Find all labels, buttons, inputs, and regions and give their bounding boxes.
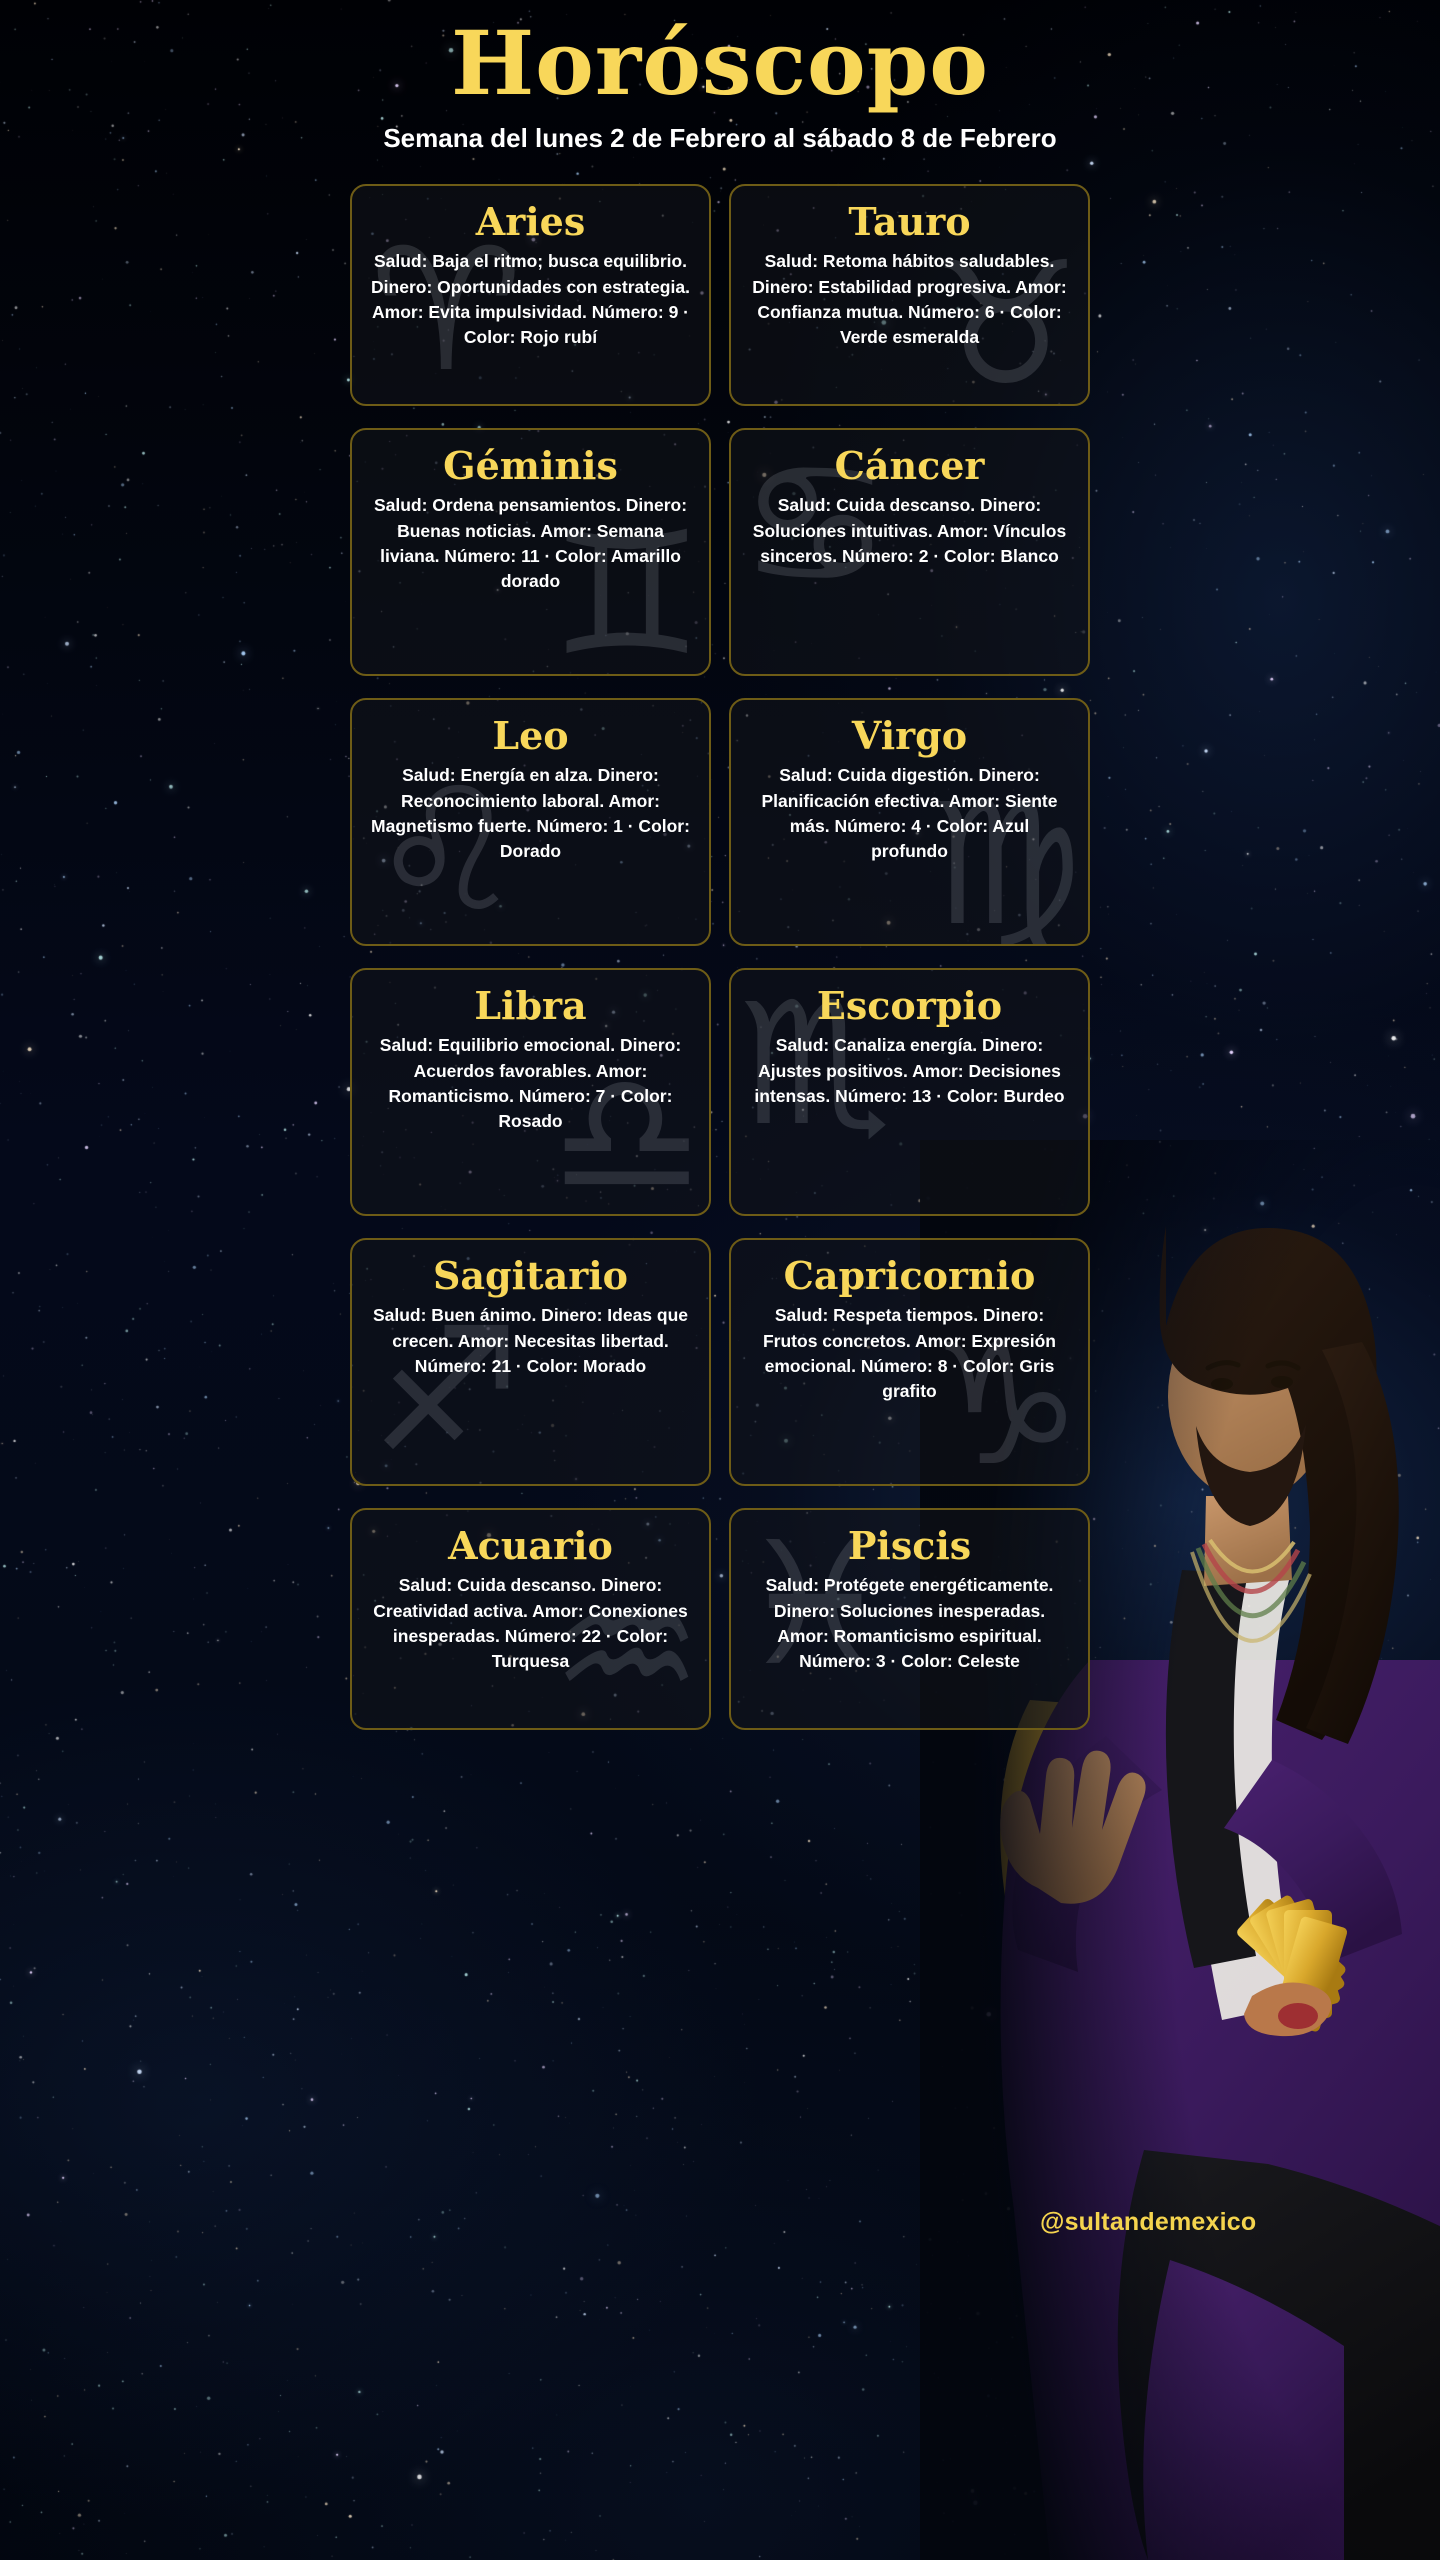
zodiac-sign-body: Salud: Cuida digestión. Dinero: Planific… xyxy=(749,763,1070,865)
zodiac-sign-name: Leo xyxy=(492,714,568,758)
zodiac-card-libra[interactable]: ♎LibraSalud: Equilibrio emocional. Diner… xyxy=(350,968,711,1216)
zodiac-card-capricornio[interactable]: ♑CapricornioSalud: Respeta tiempos. Dine… xyxy=(729,1238,1090,1486)
zodiac-sign-body: Salud: Respeta tiempos. Dinero: Frutos c… xyxy=(749,1303,1070,1405)
zodiac-sign-body: Salud: Baja el ritmo; busca equilibrio. … xyxy=(370,249,691,351)
zodiac-sign-name: Géminis xyxy=(443,444,618,488)
zodiac-sign-name: Sagitario xyxy=(433,1254,628,1298)
zodiac-sign-name: Escorpio xyxy=(817,984,1002,1028)
zodiac-card-escorpio[interactable]: ♏EscorpioSalud: Canaliza energía. Dinero… xyxy=(729,968,1090,1216)
zodiac-sign-body: Salud: Energía en alza. Dinero: Reconoci… xyxy=(370,763,691,865)
page-subtitle: Semana del lunes 2 de Febrero al sábado … xyxy=(360,121,1080,156)
account-handle: @sultandemexico xyxy=(1040,2208,1256,2237)
zodiac-sign-body: Salud: Equilibrio emocional. Dinero: Acu… xyxy=(370,1033,691,1135)
zodiac-sign-name: Cáncer xyxy=(835,444,985,488)
zodiac-sign-name: Aries xyxy=(476,200,586,244)
zodiac-sign-name: Virgo xyxy=(852,714,967,758)
zodiac-sign-body: Salud: Protégete energéticamente. Dinero… xyxy=(749,1573,1070,1675)
zodiac-sign-body: Salud: Buen ánimo. Dinero: Ideas que cre… xyxy=(370,1303,691,1379)
zodiac-sign-body: Salud: Canaliza energía. Dinero: Ajustes… xyxy=(749,1033,1070,1109)
zodiac-card-sagitario[interactable]: ♐SagitarioSalud: Buen ánimo. Dinero: Ide… xyxy=(350,1238,711,1486)
zodiac-card-grid: ♈AriesSalud: Baja el ritmo; busca equili… xyxy=(350,184,1090,1730)
zodiac-sign-name: Libra xyxy=(474,984,586,1028)
zodiac-card-geminis[interactable]: ♊GéminisSalud: Ordena pensamientos. Dine… xyxy=(350,428,711,676)
zodiac-sign-name: Acuario xyxy=(448,1524,613,1568)
page-title: Horóscopo xyxy=(0,14,1440,113)
zodiac-card-virgo[interactable]: ♍VirgoSalud: Cuida digestión. Dinero: Pl… xyxy=(729,698,1090,946)
zodiac-sign-name: Piscis xyxy=(848,1524,971,1568)
zodiac-sign-body: Salud: Cuida descanso. Dinero: Solucione… xyxy=(749,493,1070,569)
zodiac-sign-name: Tauro xyxy=(848,200,970,244)
zodiac-card-cancer[interactable]: ♋CáncerSalud: Cuida descanso. Dinero: So… xyxy=(729,428,1090,676)
zodiac-card-leo[interactable]: ♌LeoSalud: Energía en alza. Dinero: Reco… xyxy=(350,698,711,946)
zodiac-card-acuario[interactable]: ♒AcuarioSalud: Cuida descanso. Dinero: C… xyxy=(350,1508,711,1730)
zodiac-card-tauro[interactable]: ♉TauroSalud: Retoma hábitos saludables. … xyxy=(729,184,1090,406)
zodiac-sign-name: Capricornio xyxy=(784,1254,1036,1298)
zodiac-sign-body: Salud: Ordena pensamientos. Dinero: Buen… xyxy=(370,493,691,595)
zodiac-sign-body: Salud: Cuida descanso. Dinero: Creativid… xyxy=(370,1573,691,1675)
zodiac-card-piscis[interactable]: ♓PiscisSalud: Protégete energéticamente.… xyxy=(729,1508,1090,1730)
zodiac-card-aries[interactable]: ♈AriesSalud: Baja el ritmo; busca equili… xyxy=(350,184,711,406)
zodiac-sign-body: Salud: Retoma hábitos saludables. Dinero… xyxy=(749,249,1070,351)
header: Horóscopo Semana del lunes 2 de Febrero … xyxy=(0,0,1440,156)
